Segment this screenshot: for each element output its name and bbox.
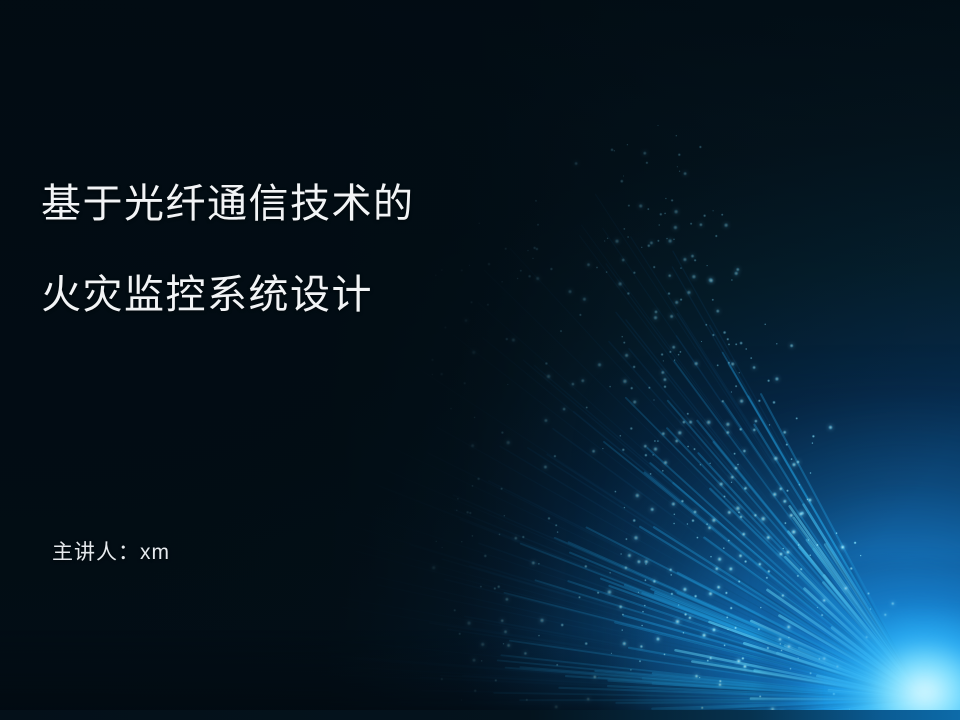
background-bottom-fade <box>0 630 960 720</box>
title-slide: 基于光纤通信技术的 火灾监控系统设计 主讲人：xm <box>0 0 960 720</box>
background-top-fade <box>0 0 960 720</box>
title-line-2: 火灾监控系统设计 <box>41 272 601 318</box>
title-line-1: 基于光纤通信技术的 <box>41 181 601 227</box>
title-block: 基于光纤通信技术的 火灾监控系统设计 <box>41 181 601 318</box>
background-bottom-strip <box>0 710 960 720</box>
presenter-subtitle: 主讲人：xm <box>52 538 170 568</box>
